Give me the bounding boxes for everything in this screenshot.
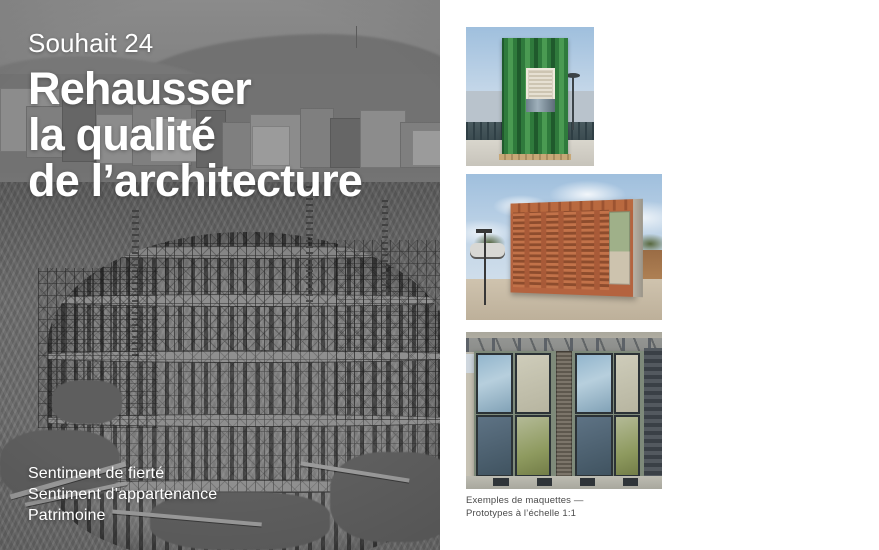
slide-headline: Rehausser la qualité de l’architecture <box>28 66 362 204</box>
caption-line-2: Prototypes à l’échelle 1:1 <box>466 508 584 521</box>
slide-eyebrow: Souhait 24 <box>28 30 153 56</box>
slide-footnotes: Sentiment de fierté Sentiment d’apparten… <box>28 463 217 526</box>
figure-green-corrugated-mockup <box>466 27 594 166</box>
footnote-line-2: Sentiment d’appartenance <box>28 484 217 505</box>
light-pole-icon <box>484 232 486 305</box>
presentation-slide: Souhait 24 Rehausser la qualité de l’arc… <box>0 0 879 550</box>
footnote-line-3: Patrimoine <box>28 505 217 526</box>
caption-line-1: Exemples de maquettes — <box>466 495 584 508</box>
figure-terracotta-brick-mockup <box>466 174 662 320</box>
image-gallery <box>466 0 866 550</box>
footnote-line-1: Sentiment de fierté <box>28 463 217 484</box>
figure-glass-curtainwall-mockup <box>466 332 662 489</box>
headline-line-2: la qualité <box>28 112 362 158</box>
street-lamp-icon <box>572 77 574 130</box>
hero-photo-panel: Souhait 24 Rehausser la qualité de l’arc… <box>0 0 440 550</box>
headline-line-1: Rehausser <box>28 66 362 112</box>
headline-line-3: de l’architecture <box>28 158 362 204</box>
wall-opening <box>609 211 631 285</box>
gallery-caption: Exemples de maquettes — Prototypes à l’é… <box>466 495 584 520</box>
textured-center-column <box>556 351 572 483</box>
brick-lattice-wall <box>511 199 637 297</box>
green-facade-panel <box>502 38 569 155</box>
